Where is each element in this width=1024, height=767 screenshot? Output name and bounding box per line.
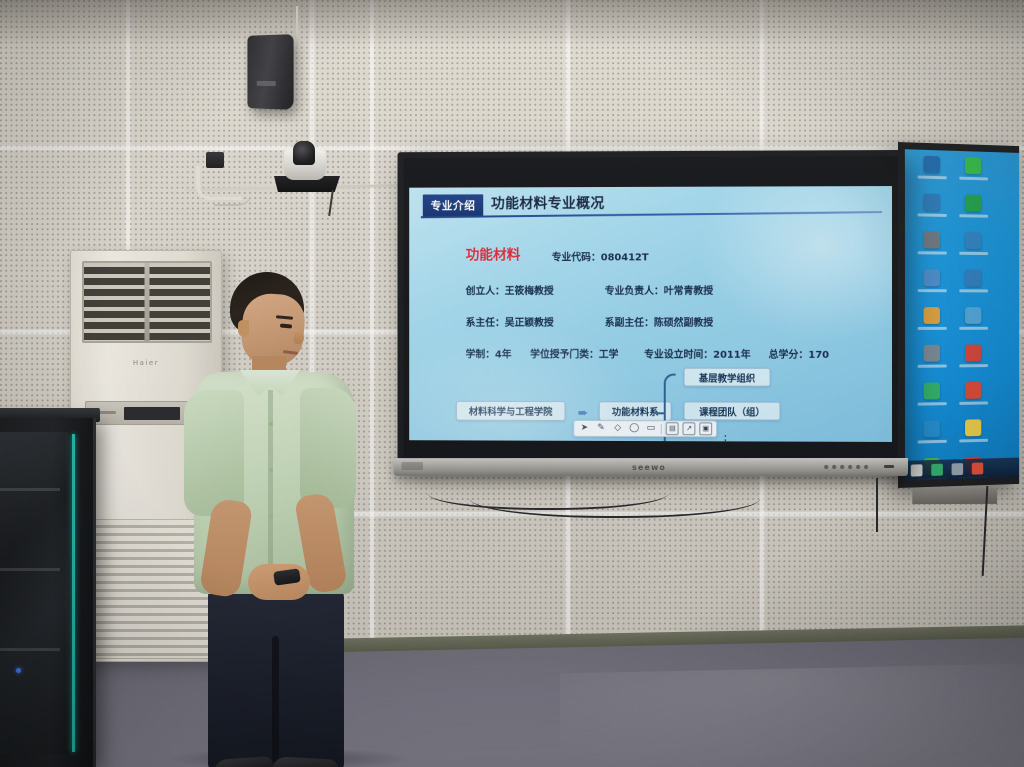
org-flow-diagram: 材料科学与工程学院 ➨ 功能材料系 基层教学组织 课程团队（组） ⋮ [456,367,830,442]
desktop-icon[interactable] [911,345,953,379]
camera-lens-icon [293,141,315,165]
wall-speaker [247,34,293,110]
desktop-icon[interactable] [911,307,953,341]
desktop-icon[interactable] [911,231,953,265]
interactive-flat-panel[interactable]: 专业介绍 功能材料专业概况 功能材料 专业代码：080412T 创立人：王筱梅教… [398,150,904,470]
rack-shelf [0,648,60,651]
presenter-ear [238,320,249,337]
display-control-buttons[interactable] [824,465,868,469]
flow-ellipsis: ⋮ [719,433,734,442]
shirt-button [269,468,273,472]
start-button-icon[interactable] [911,464,923,476]
share-tool-icon[interactable]: ↗ [683,422,696,435]
flow-box-branch-1: 课程团队（组） [684,401,781,420]
pen-tool-icon[interactable]: ✎ [595,422,608,435]
slide-header: 专业介绍 功能材料专业概况 [409,186,892,221]
magnifier-tool-icon[interactable]: ◯ [628,422,641,435]
desktop-icon[interactable] [953,269,994,303]
screen-tool-icon[interactable]: ▭ [645,422,658,435]
present-tool-icon[interactable]: ▣ [699,422,712,435]
desktop-icon[interactable] [911,420,953,455]
flow-arrow-icon: ➨ [573,408,593,420]
field-leader: 专业负责人：叶常青教授 [605,282,713,297]
secondary-monitor[interactable] [898,142,1019,488]
desktop-icon[interactable] [953,194,994,228]
taskbar-app-icon[interactable] [952,463,964,475]
rack-shelf [0,488,60,491]
field-established: 专业设立时间：2011年 [644,346,751,361]
ac-display [124,407,180,420]
field-degree-type: 学位授予门类：工学 [530,346,618,361]
presenter-sleeve-left [184,390,244,516]
desktop-icon[interactable] [911,155,953,190]
cursor-tool-icon[interactable]: ➤ [578,422,591,435]
presentation-slide[interactable]: 专业介绍 功能材料专业概况 功能材料 专业代码：080412T 创立人：王筱梅教… [409,186,892,442]
monitor-mount [912,488,997,504]
presenter-leg-gap [272,636,279,767]
speaker-cable [296,6,298,48]
rack-accent-light [72,434,75,752]
desktop-icon[interactable] [953,157,994,192]
rack-shelf [0,568,60,571]
section-badge: 专业介绍 [423,194,483,217]
desktop-icon[interactable] [911,193,953,228]
lecture-room-photo: Haier [0,0,1024,767]
shirt-button [269,422,273,426]
presenter-sleeve-right [300,388,356,508]
desktop-icon-grid [911,155,994,480]
field-deputy-head: 系副主任：陈硕然副教授 [605,314,713,329]
desktop-icon[interactable] [911,382,953,416]
ptz-conference-camera [284,150,326,180]
sensor-wire [214,172,252,206]
desktop-icon[interactable] [953,307,994,341]
ceiling-shadow [0,0,1024,46]
display-cable-drop [876,478,878,532]
bezel-model-tag [402,462,423,470]
flow-box-college: 材料科学与工程学院 [456,401,566,421]
page-tool-icon[interactable]: ▤ [666,422,679,435]
equipment-rack [0,418,96,767]
desktop-icon[interactable] [953,382,994,416]
desktop-icon[interactable] [953,419,994,453]
toolbar-divider [661,424,662,434]
wall-sensor-module [206,152,224,168]
display-brand-logo: seewo [632,463,666,472]
shirt-button [269,514,273,518]
desktop-icon[interactable] [953,232,994,266]
standing-presenter [190,272,390,767]
major-name: 功能材料 [466,245,521,265]
annotation-toolbar[interactable]: ➤ ✎ ◇ ◯ ▭ ▤ ↗ ▣ [573,420,717,437]
rack-status-led [16,668,21,673]
windows-taskbar[interactable] [905,458,1019,481]
flow-box-department: 功能材料系 [599,401,672,421]
eraser-tool-icon[interactable]: ◇ [611,422,624,435]
taskbar-app-icon[interactable] [972,462,983,474]
desktop-icon[interactable] [911,269,953,303]
field-duration: 学制：4年 [466,346,512,361]
speaker-logo [257,81,276,86]
windows-desktop[interactable] [905,149,1019,481]
field-founder: 创立人：王筱梅教授 [466,282,554,297]
display-bezel: seewo [394,458,908,476]
slide-title: 功能材料专业概况 [491,193,605,213]
field-head: 系主任：吴正颖教授 [466,314,554,329]
field-major-code: 专业代码：080412T [552,248,649,263]
ir-receiver [884,465,894,468]
field-total-credits: 总学分：170 [769,346,829,361]
taskbar-app-icon[interactable] [931,464,943,476]
presenter-shirt-placket [268,390,273,585]
display-cable [470,478,760,518]
rack-glass-door[interactable] [0,432,68,754]
flow-box-branch-0: 基层教学组织 [684,368,771,387]
title-underline [421,211,882,218]
desktop-icon[interactable] [953,344,994,378]
floor-light-reflection [560,663,1024,767]
